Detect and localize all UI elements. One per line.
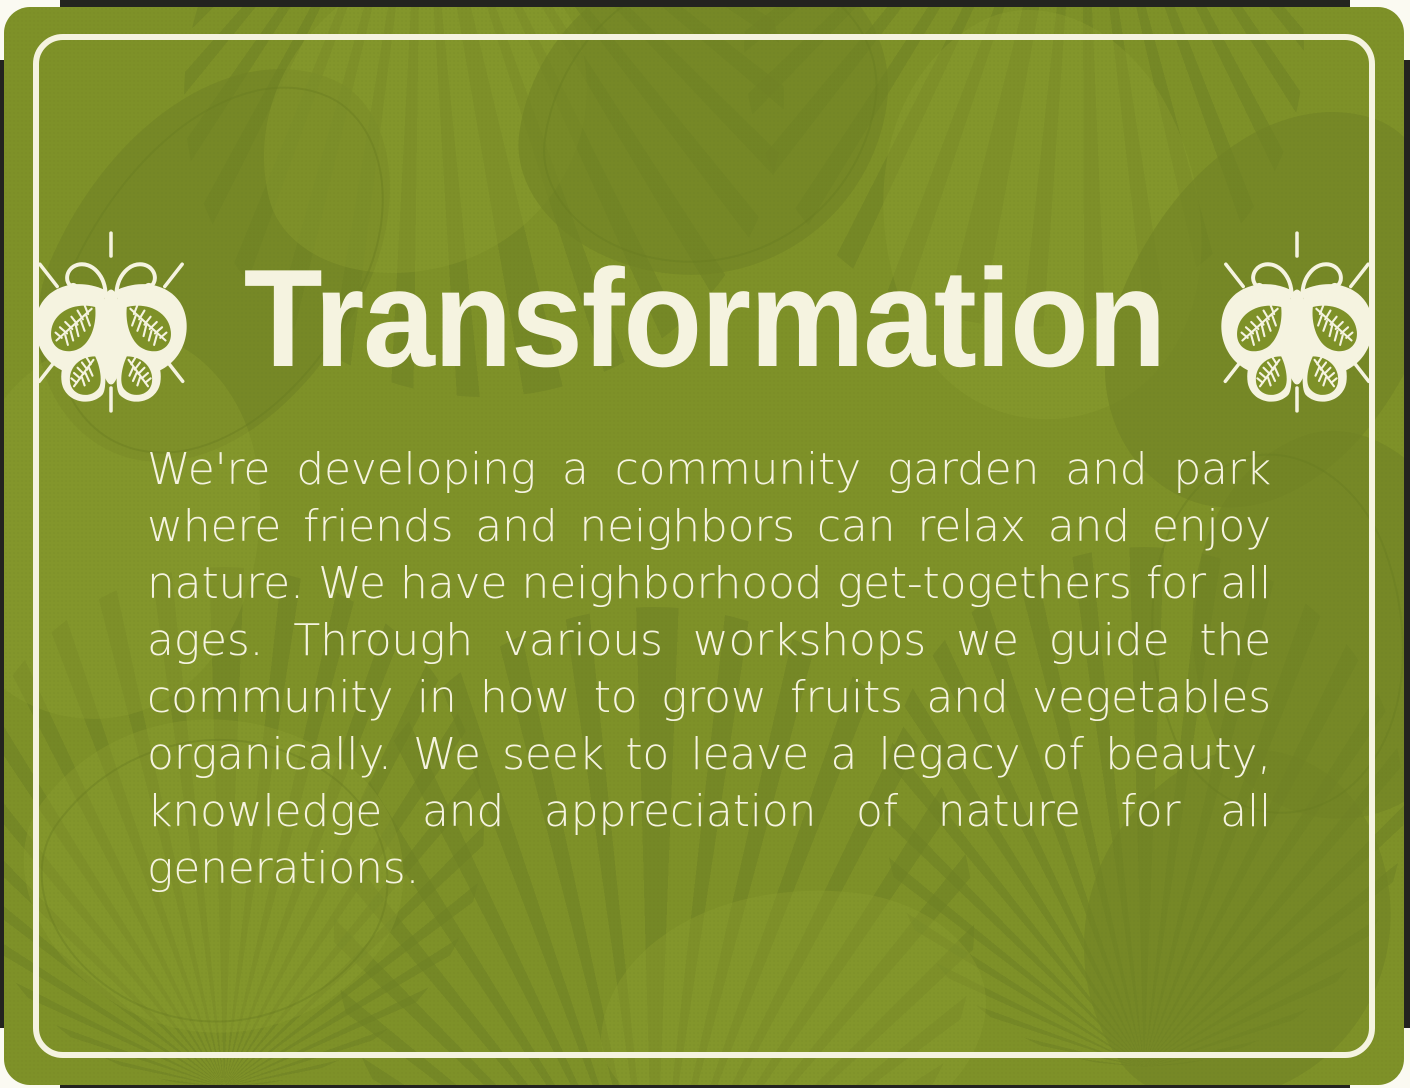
butterfly-icon-right xyxy=(1209,231,1385,413)
title-row: Transformation xyxy=(4,229,1404,415)
butterfly-icon-left xyxy=(23,231,199,413)
card-content: Transformation xyxy=(4,7,1404,1085)
poster-canvas: Transformation xyxy=(0,0,1410,1088)
transformation-card: Transformation xyxy=(4,7,1404,1085)
body-paragraph: We're developing a community garden and … xyxy=(147,441,1271,954)
page-title: Transformation xyxy=(243,249,1164,396)
